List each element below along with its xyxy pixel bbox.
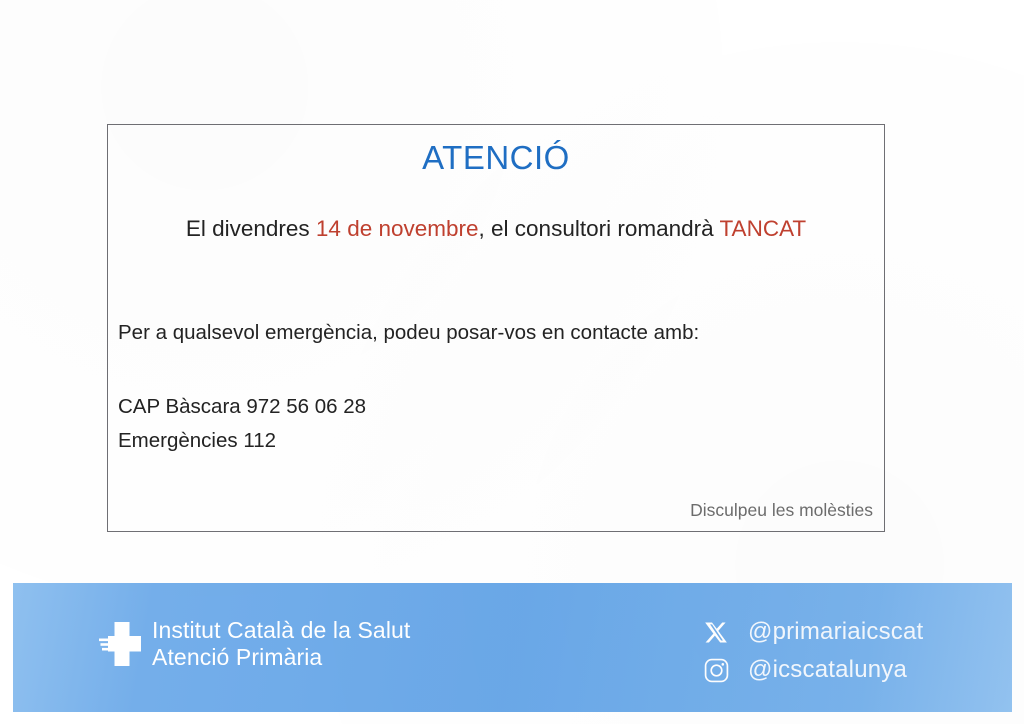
notice-box: ATENCIÓ El divendres 14 de novembre, el … xyxy=(107,124,885,532)
contact-item-cap: CAP Bàscara 972 56 06 28 xyxy=(118,390,366,424)
contact-list: CAP Bàscara 972 56 06 28 Emergències 112 xyxy=(118,390,366,458)
ics-cross-icon xyxy=(99,622,141,666)
social-row-instagram[interactable]: @icscatalunya xyxy=(701,651,923,689)
apology-note: Disculpeu les molèsties xyxy=(690,500,873,521)
social-links: @primariaicscat @icscatalunya xyxy=(701,613,923,689)
closure-date: 14 de novembre xyxy=(316,216,479,241)
closure-announcement: El divendres 14 de novembre, el consulto… xyxy=(108,216,884,242)
contact-item-emergencies: Emergències 112 xyxy=(118,424,366,458)
closure-status: TANCAT xyxy=(719,216,806,241)
ics-logo: Institut Català de la Salut Atenció Prim… xyxy=(99,617,410,671)
instagram-handle[interactable]: @icscatalunya xyxy=(748,656,907,684)
instagram-icon[interactable] xyxy=(701,657,731,684)
social-row-x[interactable]: @primariaicscat xyxy=(701,613,923,651)
x-twitter-icon[interactable] xyxy=(701,620,731,645)
ics-logo-line-1: Institut Català de la Salut xyxy=(152,617,410,644)
contact-intro-text: Per a qualsevol emergència, podeu posar-… xyxy=(118,321,699,345)
page-title: ATENCIÓ xyxy=(108,140,884,176)
ics-logo-line-2: Atenció Primària xyxy=(152,644,410,671)
footer-banner: Institut Català de la Salut Atenció Prim… xyxy=(13,583,1012,712)
closure-prefix: El divendres xyxy=(186,216,316,241)
ics-logo-text: Institut Català de la Salut Atenció Prim… xyxy=(152,617,410,671)
closure-middle: , el consultori romandrà xyxy=(479,216,720,241)
x-handle[interactable]: @primariaicscat xyxy=(748,618,923,646)
